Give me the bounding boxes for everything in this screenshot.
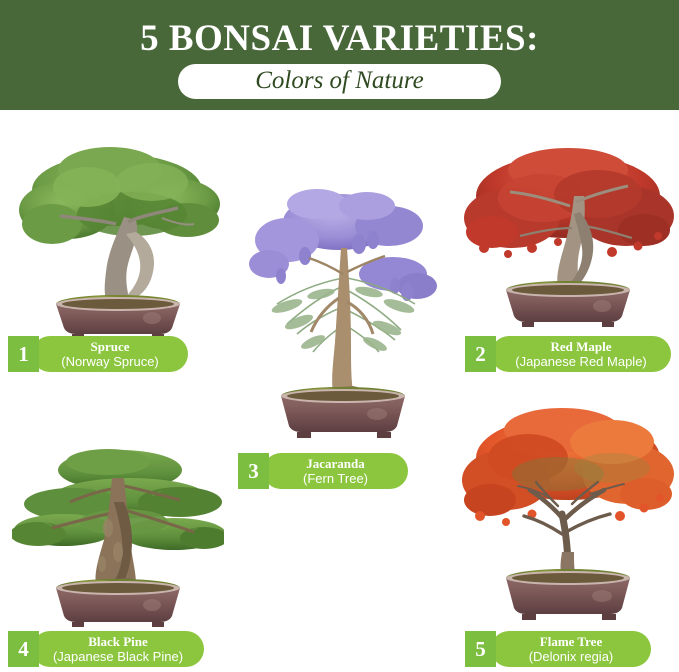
- label-jacaranda[interactable]: Jacaranda (Fern Tree) 3: [238, 453, 408, 489]
- label-pill-flame-tree: Flame Tree (Delonix regia): [491, 631, 651, 667]
- label-black-pine[interactable]: Black Pine (Japanese Black Pine) 4: [8, 631, 204, 667]
- variety-card-black-pine: [12, 442, 224, 632]
- variety-common-name: (Japanese Red Maple): [515, 354, 647, 369]
- variety-name: Black Pine: [88, 635, 148, 649]
- spruce-tree-image: [12, 132, 224, 337]
- label-pill-red-maple: Red Maple (Japanese Red Maple): [491, 336, 671, 372]
- variety-number-badge: 2: [465, 336, 496, 372]
- variety-name: Jacaranda: [306, 457, 365, 471]
- label-pill-black-pine: Black Pine (Japanese Black Pine): [32, 631, 204, 667]
- red-maple-tree-image: [462, 136, 674, 336]
- subtitle-pill: Colors of Nature: [178, 64, 501, 99]
- variety-card-flame-tree: [462, 402, 674, 632]
- variety-common-name: (Japanese Black Pine): [53, 649, 183, 664]
- label-pill-jacaranda: Jacaranda (Fern Tree): [263, 453, 408, 489]
- label-spruce[interactable]: Spruce (Norway Spruce) 1: [8, 336, 188, 372]
- variety-name: Red Maple: [550, 340, 611, 354]
- variety-number-badge: 4: [8, 631, 39, 667]
- header-banner: 5 BONSAI VARIETIES: Colors of Nature: [0, 0, 679, 110]
- variety-number-badge: 1: [8, 336, 39, 372]
- variety-number-badge: 5: [465, 631, 496, 667]
- label-flame-tree[interactable]: Flame Tree (Delonix regia) 5: [465, 631, 651, 667]
- jacaranda-tree-image: [247, 182, 443, 450]
- variety-common-name: (Delonix regia): [529, 649, 614, 664]
- variety-card-red-maple: [462, 136, 674, 336]
- subtitle-text: Colors of Nature: [255, 68, 424, 95]
- variety-common-name: (Norway Spruce): [61, 354, 159, 369]
- variety-card-jacaranda: [247, 182, 443, 450]
- variety-number-badge: 3: [238, 453, 269, 489]
- variety-name: Spruce: [91, 340, 130, 354]
- black-pine-tree-image: [12, 442, 224, 632]
- label-pill-spruce: Spruce (Norway Spruce): [32, 336, 188, 372]
- infographic-page: 5 BONSAI VARIETIES: Colors of Nature: [0, 0, 679, 672]
- label-red-maple[interactable]: Red Maple (Japanese Red Maple) 2: [465, 336, 671, 372]
- variety-card-spruce: [12, 132, 224, 337]
- variety-name: Flame Tree: [540, 635, 602, 649]
- flame-tree-image: [462, 402, 674, 632]
- page-title: 5 BONSAI VARIETIES:: [0, 17, 679, 60]
- variety-common-name: (Fern Tree): [303, 471, 368, 486]
